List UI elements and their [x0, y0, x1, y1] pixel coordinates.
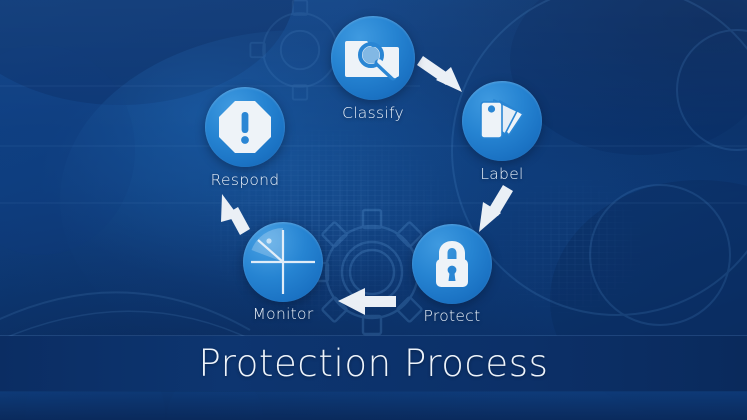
- arrow-down-left-icon: [479, 185, 513, 232]
- classify-node-disc[interactable]: [331, 16, 415, 100]
- label-caption: Label: [432, 165, 572, 183]
- title-band: Protection Process: [0, 336, 747, 391]
- monitor-node-disc[interactable]: [243, 222, 323, 302]
- page-title: Protection Process: [198, 342, 548, 385]
- slide-canvas: Classify Label Protect: [0, 0, 747, 420]
- circle-outline: [590, 185, 730, 325]
- padlock-icon: [430, 239, 474, 289]
- respond-caption: Respond: [175, 171, 315, 189]
- pie-chart-icon: [243, 222, 323, 302]
- octagon-alert-icon: [217, 99, 273, 155]
- classify-caption: Classify: [303, 104, 443, 122]
- circle-outline: [677, 30, 747, 150]
- price-tags-icon: [476, 96, 528, 146]
- band-under-strip: [0, 391, 747, 420]
- monitor-caption: Monitor: [213, 305, 353, 323]
- label-node-disc[interactable]: [462, 81, 542, 161]
- soft-blob: [510, 0, 747, 155]
- protect-caption: Protect: [382, 307, 522, 325]
- respond-node-disc[interactable]: [205, 87, 285, 167]
- arrow-down-right-icon: [417, 56, 462, 92]
- folder-magnifier-icon: [345, 33, 401, 83]
- soft-blob: [0, 45, 135, 255]
- protect-node-disc[interactable]: [412, 224, 492, 304]
